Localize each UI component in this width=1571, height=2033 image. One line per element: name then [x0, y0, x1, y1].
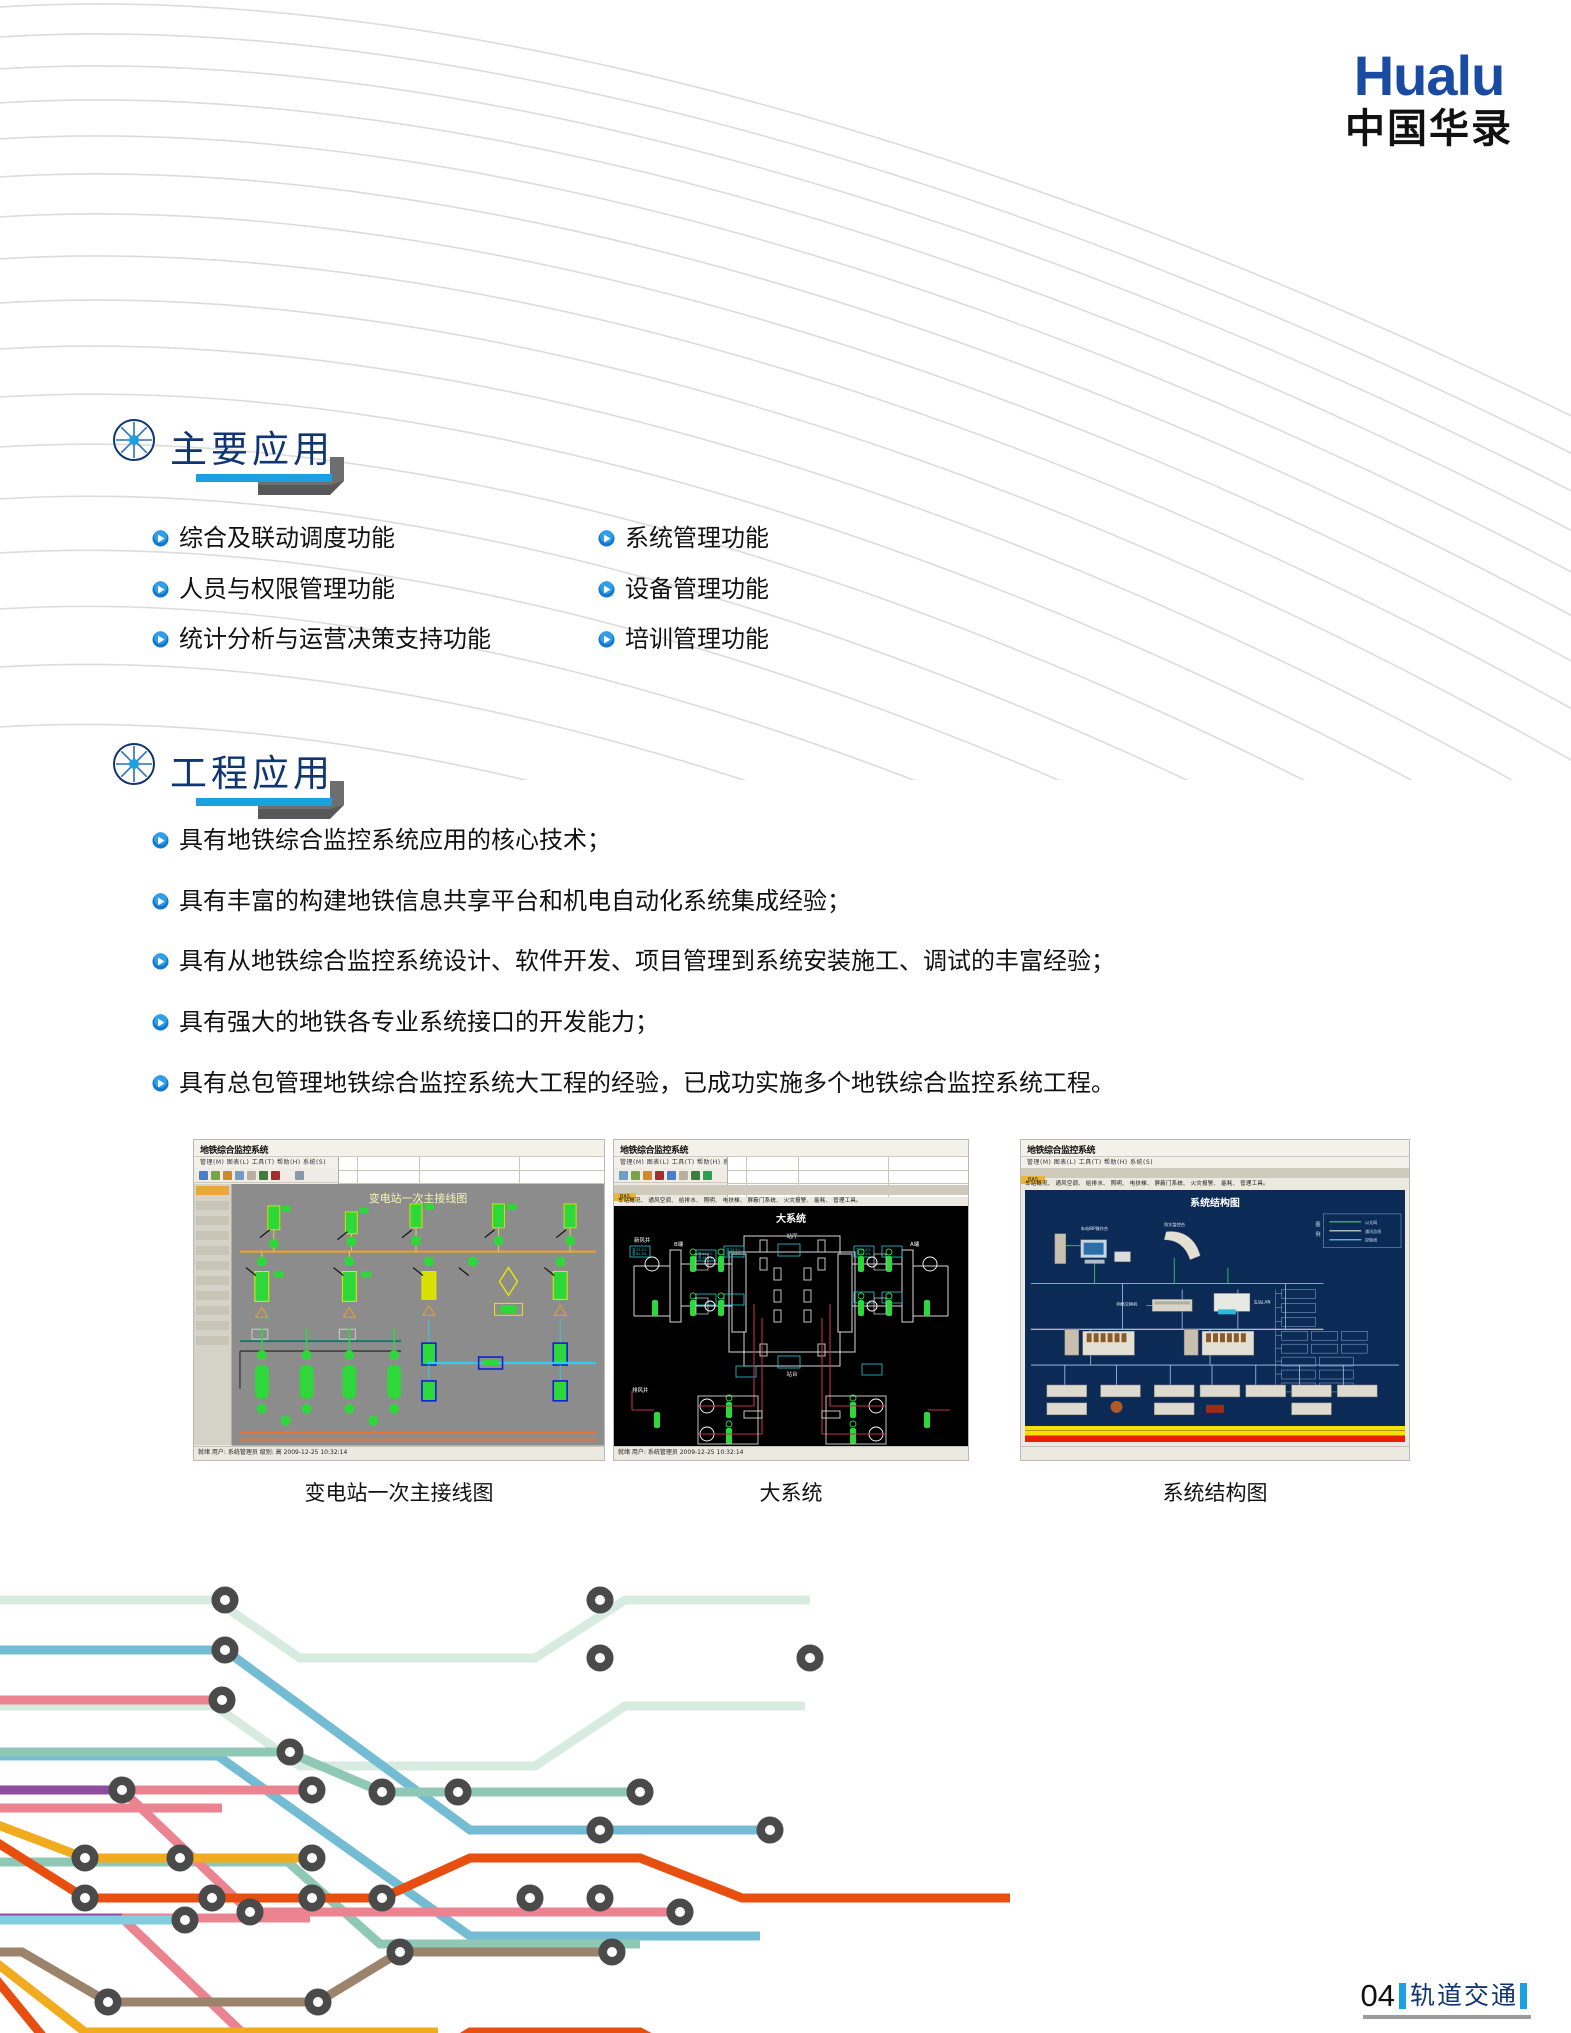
- list-item[interactable]: 系统管理功能: [598, 523, 769, 554]
- scada-window: 地铁综合监控系统 管理(M) 图表(L) 工具(T) 帮助(H) 系统(S) B…: [1021, 1140, 1409, 1460]
- list-item[interactable]: 人员与权限管理功能: [152, 574, 491, 605]
- screenshot-system-structure-diagram[interactable]: 地铁综合监控系统 管理(M) 图表(L) 工具(T) 帮助(H) 系统(S) B…: [1020, 1139, 1410, 1461]
- scada-tabstrip[interactable]: BAS: [614, 1185, 968, 1195]
- section-underline: [196, 798, 332, 806]
- screenshot-caption: 变电站一次主接线图: [193, 1477, 605, 1507]
- svg-text:控制线: 控制线: [1365, 1238, 1377, 1243]
- list-item-label: 统计分析与运营决策支持功能: [179, 624, 491, 655]
- screenshot-caption: 大系统: [613, 1477, 969, 1507]
- starburst-icon: [112, 742, 156, 786]
- list-item-label: 具有总包管理地铁综合监控系统大工程的经验，已成功实施多个地铁综合监控系统工程。: [179, 1068, 1115, 1099]
- arrow-bullet-icon: [152, 1014, 169, 1031]
- main-applications-list-left: 综合及联动调度功能 人员与权限管理功能 统计分析与运营决策支持功能: [152, 523, 491, 675]
- large-system-canvas: 大系统: [614, 1206, 968, 1447]
- plc-rack-icon: [1184, 1329, 1254, 1355]
- list-item[interactable]: 统计分析与运营决策支持功能: [152, 624, 491, 655]
- svg-text:湿 58.0%: 湿 58.0%: [698, 1255, 712, 1260]
- arrow-bullet-icon: [152, 832, 169, 849]
- list-item-label: 培训管理功能: [625, 624, 769, 655]
- screenshot-gallery: 地铁综合监控系统 管理(M) 图表(L) 工具(T) 帮助(H) 系统(S): [0, 1139, 1571, 1239]
- arrow-bullet-icon: [152, 1075, 169, 1092]
- svg-text:防灾监控台: 防灾监控台: [1164, 1221, 1185, 1227]
- page-number: 04: [1361, 1980, 1395, 2011]
- scada-window: 地铁综合监控系统 管理(M) 图表(L) 工具(T) 帮助(H) 系统(S): [194, 1140, 604, 1460]
- screenshot-large-system-diagram[interactable]: 地铁综合监控系统 管理(M) 图表(L) 工具(T) 帮助(H) 系统(S): [613, 1139, 969, 1461]
- section-header-main-applications: 主要应用: [112, 418, 334, 468]
- arrow-bullet-icon: [598, 631, 615, 648]
- list-item-label: 设备管理功能: [625, 574, 769, 605]
- svg-text:图: 图: [1315, 1222, 1320, 1228]
- svg-text:湿 61.2%: 湿 61.2%: [632, 1251, 646, 1256]
- brochure-page: Hualu 中国华录 主要应用: [0, 0, 1571, 2033]
- footer-accent-bar-left: [1399, 1983, 1406, 2009]
- svg-text:通讯总线: 通讯总线: [1365, 1229, 1381, 1234]
- svg-text:例: 例: [1315, 1231, 1320, 1238]
- svg-text:以太网: 以太网: [1365, 1220, 1377, 1225]
- list-item-label: 具有从地铁综合监控系统设计、软件开发、项目管理到系统安装施工、调试的丰富经验；: [179, 946, 1115, 977]
- svg-text:A端: A端: [910, 1240, 920, 1248]
- list-item[interactable]: 培训管理功能: [598, 624, 769, 655]
- section-underline: [196, 474, 332, 482]
- arrow-bullet-icon: [598, 581, 615, 598]
- arrow-bullet-icon: [152, 530, 169, 547]
- alarm-bar-critical: [1025, 1436, 1405, 1442]
- page-footer: 04 轨道交通: [1361, 1980, 1532, 2011]
- list-item-label: 系统管理功能: [625, 523, 769, 554]
- system-structure-canvas: 系统结构图 图 例 以太网 通讯总线 控制线: [1025, 1190, 1405, 1427]
- engineering-applications-list: 具有地铁综合监控系统应用的核心技术； 具有丰富的构建地铁信息共享平台和机电自动化…: [152, 825, 1115, 1129]
- scada-submenu[interactable]: 车站概况、 通风空调、 给排水、 照明、 电扶梯、 屏蔽门系统、 火灾报警、 能…: [1025, 1179, 1409, 1188]
- screenshot-substation-diagram[interactable]: 地铁综合监控系统 管理(M) 图表(L) 工具(T) 帮助(H) 系统(S): [193, 1139, 605, 1461]
- list-item[interactable]: 具有地铁综合监控系统应用的核心技术；: [152, 825, 1115, 856]
- list-item-label: 具有丰富的构建地铁信息共享平台和机电自动化系统集成经验；: [179, 886, 851, 917]
- company-logo: Hualu 中国华录: [1345, 48, 1513, 152]
- window-title: 地铁综合监控系统: [1021, 1140, 1409, 1157]
- scada-sidebar[interactable]: [194, 1184, 232, 1445]
- window-statusbar: [1021, 1446, 1409, 1460]
- logo-wordmark-en: Hualu: [1345, 48, 1513, 104]
- svg-text:网络交换机: 网络交换机: [1117, 1300, 1139, 1306]
- arrow-bullet-icon: [152, 893, 169, 910]
- list-item-label: 具有强大的地铁各专业系统接口的开发能力；: [179, 1007, 659, 1038]
- svg-text:B端: B端: [674, 1240, 684, 1248]
- section-header-engineering-applications: 工程应用: [112, 742, 334, 792]
- footer-label: 轨道交通: [1410, 1983, 1518, 2008]
- window-statusbar: 就绪 用户: 系统管理员 级别: 高 2009-12-25 10:32:14: [194, 1446, 604, 1460]
- list-item-label: 具有地铁综合监控系统应用的核心技术；: [179, 825, 611, 856]
- arrow-bullet-icon: [152, 581, 169, 598]
- scada-window: 地铁综合监控系统 管理(M) 图表(L) 工具(T) 帮助(H) 系统(S): [614, 1140, 968, 1460]
- diagram-title: 变电站一次主接线图: [369, 1191, 467, 1205]
- svg-text:站厅: 站厅: [786, 1232, 798, 1240]
- plc-rack-icon: [1065, 1329, 1135, 1355]
- substation-sld-canvas: 变电站一次主接线图: [232, 1184, 604, 1446]
- footer-rule: [1363, 2015, 1532, 2019]
- arrow-bullet-icon: [152, 631, 169, 648]
- window-statusbar: 就绪 用户: 系统管理员 2009-12-25 10:32:14: [614, 1446, 968, 1460]
- window-title: 地铁综合监控系统: [614, 1140, 968, 1157]
- list-item[interactable]: 综合及联动调度功能: [152, 523, 491, 554]
- list-item[interactable]: 具有从地铁综合监控系统设计、软件开发、项目管理到系统安装施工、调试的丰富经验；: [152, 946, 1115, 977]
- window-menubar[interactable]: 管理(M) 图表(L) 工具(T) 帮助(H) 系统(S): [1021, 1157, 1409, 1168]
- scada-tabstrip[interactable]: BAS: [1021, 1168, 1409, 1178]
- svg-text:排风井: 排风井: [632, 1386, 649, 1394]
- diagram-title: 大系统: [776, 1212, 806, 1225]
- main-applications-list-right: 系统管理功能 设备管理功能 培训管理功能: [598, 523, 769, 675]
- list-item[interactable]: 具有丰富的构建地铁信息共享平台和机电自动化系统集成经验；: [152, 886, 1115, 917]
- list-item-label: 综合及联动调度功能: [179, 523, 395, 554]
- arrow-bullet-icon: [598, 530, 615, 547]
- footer-accent-bar-right: [1520, 1983, 1527, 2009]
- svg-text:站台: 站台: [786, 1370, 798, 1378]
- diagram-title: 系统结构图: [1190, 1196, 1240, 1209]
- svg-text:新风井: 新风井: [634, 1236, 651, 1244]
- list-item[interactable]: 具有强大的地铁各专业系统接口的开发能力；: [152, 1007, 1115, 1038]
- screenshot-caption: 系统结构图: [1020, 1477, 1410, 1507]
- section-title: 工程应用: [170, 755, 334, 792]
- metro-map-graphic: [0, 1540, 1571, 2033]
- starburst-icon: [112, 418, 156, 462]
- alarm-bar-group: [1025, 1426, 1405, 1442]
- arrow-bullet-icon: [152, 953, 169, 970]
- svg-text:湿 60.1%: 湿 60.1%: [726, 1251, 740, 1256]
- list-item[interactable]: 具有总包管理地铁综合监控系统大工程的经验，已成功实施多个地铁综合监控系统工程。: [152, 1068, 1115, 1099]
- list-item[interactable]: 设备管理功能: [598, 574, 769, 605]
- scada-submenu[interactable]: 车站概况、 通风空调、 给排水、 照明、 电扶梯、 屏蔽门系统、 火灾报警、 能…: [618, 1196, 968, 1205]
- svg-text:车站IBP操作台: 车站IBP操作台: [1081, 1225, 1108, 1231]
- list-item-label: 人员与权限管理功能: [179, 574, 395, 605]
- logo-wordmark-cn: 中国华录: [1345, 106, 1513, 152]
- window-title: 地铁综合监控系统: [194, 1140, 604, 1157]
- section-title: 主要应用: [170, 431, 334, 468]
- svg-text:车站LAN: 车站LAN: [1254, 1298, 1271, 1304]
